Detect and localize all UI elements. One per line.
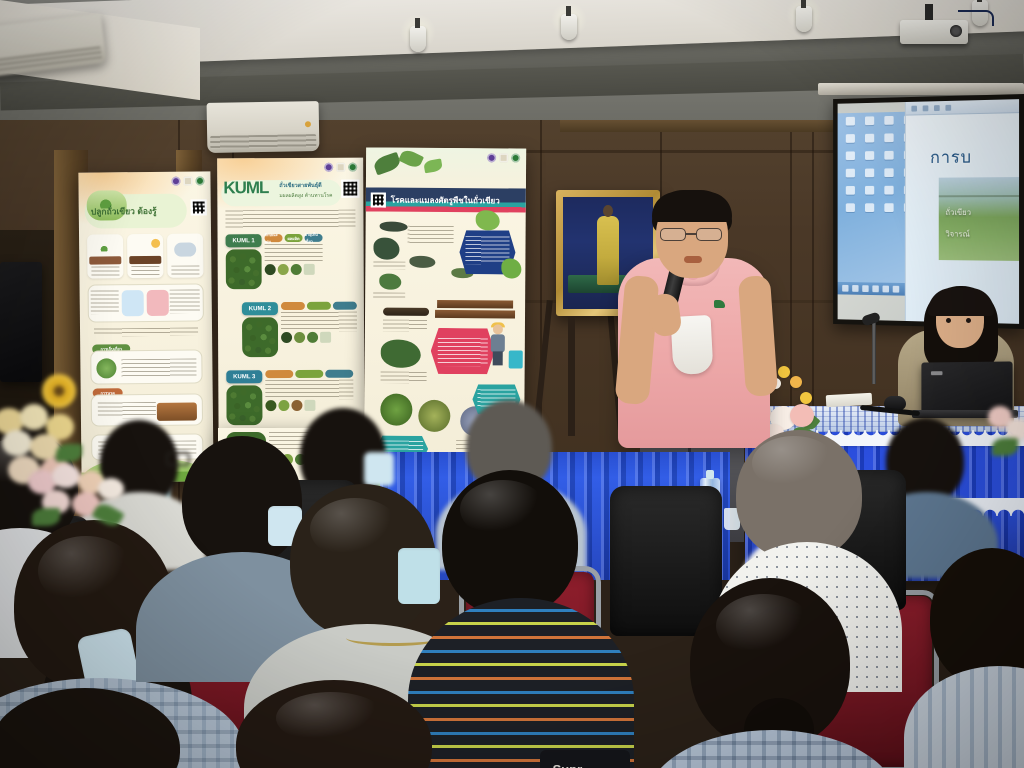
organization-logo-icon xyxy=(487,153,496,162)
seed-closeup-icon xyxy=(291,400,302,411)
desktop-icon[interactable] xyxy=(845,134,854,143)
qr-code-icon[interactable] xyxy=(371,192,386,207)
soil-illustration-dark xyxy=(129,256,161,264)
banner1-pill-row xyxy=(122,290,169,316)
bean-closeup-icon xyxy=(265,264,276,275)
card-caption-lines xyxy=(131,266,159,276)
flower-gold xyxy=(790,376,802,388)
wall-monitor xyxy=(0,262,42,382)
taskbar-start-icon[interactable] xyxy=(842,285,848,292)
pest-caterpillar-illustration xyxy=(380,222,408,232)
bean-closeup-icon xyxy=(281,332,292,343)
kuml-row-1: KUML 1 ลักษณะเด่น ผลผลิต อายุเก็บเกี่ยว xyxy=(226,234,323,290)
kuml-col-header-3 xyxy=(325,370,353,378)
slide-title: การบ xyxy=(930,144,972,171)
track-light-3 xyxy=(796,6,812,32)
qr-code-icon[interactable] xyxy=(191,199,207,215)
desktop-icon[interactable] xyxy=(845,117,854,126)
desktop-icon[interactable] xyxy=(884,116,893,125)
flower-yellow-2 xyxy=(800,392,812,404)
soil-bed-illustration xyxy=(437,300,513,309)
organization-logo-green-icon xyxy=(195,176,204,185)
plant-illustration xyxy=(476,210,500,230)
qr-code-icon[interactable] xyxy=(341,180,359,198)
taskbar-icon[interactable] xyxy=(883,286,889,293)
desktop-icon[interactable] xyxy=(865,151,874,160)
card-caption-lines xyxy=(171,265,199,275)
organization-logo-icon xyxy=(171,177,180,186)
kuml-row-2: KUML 2 xyxy=(242,302,357,358)
field-closeup-icon xyxy=(304,400,315,411)
kuml-row-text xyxy=(265,244,323,264)
hair-highlight xyxy=(310,498,400,560)
bean-closeup-icon xyxy=(265,400,276,411)
soil-illustration xyxy=(89,256,121,264)
section-text-lines xyxy=(98,402,156,419)
disease-photo-circle-2 xyxy=(418,400,450,432)
info-text-lines xyxy=(91,290,119,314)
organization-wordmark-icon xyxy=(183,177,192,186)
desktop-icon[interactable] xyxy=(884,133,893,142)
wall-ac-center xyxy=(207,101,320,153)
banner1-paragraph xyxy=(94,327,198,336)
hair-highlight xyxy=(716,594,812,658)
desktop-icon[interactable] xyxy=(845,169,854,178)
pest-beetle-illustration xyxy=(379,274,401,290)
eye-left xyxy=(946,318,951,323)
kuml-col-header-3 xyxy=(333,302,357,310)
face-mask xyxy=(364,452,394,486)
info-text-lines-2 xyxy=(170,289,200,313)
pull-down-projection-screen[interactable]: การบ ถั่วเขียว วิจารณ์ xyxy=(833,94,1024,329)
plant-closeup-icon xyxy=(291,264,302,275)
body-shape xyxy=(491,334,505,352)
kuml-chip-2: KUML 2 xyxy=(242,302,278,315)
bouquet-left-pastel xyxy=(28,462,138,532)
eyeglasses-icon xyxy=(660,228,726,241)
organization-logo-green-icon xyxy=(348,163,357,172)
sunflower xyxy=(42,374,76,408)
slide-photo-caption-2: วิจารณ์ xyxy=(945,229,1015,241)
shirt-logo-icon xyxy=(714,300,725,308)
head-shape xyxy=(493,324,503,334)
field-closeup-icon xyxy=(304,264,315,275)
soil-bed-illustration-2 xyxy=(383,308,429,316)
kuml-col-header-1 xyxy=(265,370,293,378)
screen-surface: การบ ถั่วเขียว วิจารณ์ xyxy=(838,99,1019,324)
desktop-icon[interactable] xyxy=(865,134,874,143)
flower-cream xyxy=(1006,418,1024,440)
face-mask xyxy=(398,548,440,604)
flower-yellow xyxy=(778,366,790,378)
banner3-title: โรคและแมลงศัตรูพืชในถั่วเขียว xyxy=(391,193,500,207)
desktop-icon[interactable] xyxy=(884,186,893,195)
organization-wordmark-icon xyxy=(499,153,508,162)
pod-closeup-icon xyxy=(278,400,289,411)
desktop-icon[interactable] xyxy=(865,169,874,178)
banner3-title-bar: โรคและแมลงศัตรูพืชในถั่วเขียว xyxy=(366,187,526,212)
desktop-icon[interactable] xyxy=(884,203,893,212)
laptop-logo-icon xyxy=(931,371,943,375)
kuml-col-header-2 xyxy=(307,302,331,310)
kuml-row-text xyxy=(281,312,357,332)
taskbar-icon[interactable] xyxy=(852,285,858,292)
bean-photo-1 xyxy=(226,249,262,289)
organization-wordmark-icon xyxy=(336,163,345,172)
hair-highlight xyxy=(460,480,546,538)
ribbon-icon[interactable] xyxy=(911,106,917,112)
kuml-subtitle-1: ถั่วเขียวสายพันธุ์ดี xyxy=(279,182,321,190)
app-ribbon-bar[interactable] xyxy=(906,99,1019,116)
flower-cream xyxy=(98,478,124,500)
kuml-row-text xyxy=(265,380,353,400)
presenter-mouth xyxy=(684,256,702,263)
banner1-section-box-1 xyxy=(90,349,202,384)
hair-highlight xyxy=(38,536,134,606)
ribbon-icon[interactable] xyxy=(945,105,951,111)
presenter-hair-top xyxy=(652,192,732,222)
banner1-card-3 xyxy=(167,233,203,277)
banner3-callout-pink xyxy=(431,328,495,374)
projector-lens-icon xyxy=(950,25,962,37)
farmer-illustration xyxy=(489,324,507,366)
plant-closeup-icon xyxy=(307,332,318,343)
disease-photo-circle-1 xyxy=(380,394,412,426)
laptop-operator-fringe xyxy=(928,288,994,316)
track-light-1 xyxy=(410,26,426,52)
banner1-title: ปลูกถั่วเขียว ต้องรู้ xyxy=(91,204,157,219)
info-pill-blue xyxy=(122,290,144,316)
pod-closeup-icon xyxy=(278,264,289,275)
ribbon-icon[interactable] xyxy=(934,105,940,111)
eye-right xyxy=(966,318,971,323)
bean-photo-3 xyxy=(226,385,262,425)
bag-brand-text: Supr xyxy=(552,762,582,768)
field-closeup-icon xyxy=(320,332,331,343)
portrait-figure xyxy=(597,216,619,285)
leaf-icon xyxy=(992,438,1018,456)
projection-screen-case xyxy=(818,83,1024,95)
plant-illustration xyxy=(501,258,521,278)
legs-shape xyxy=(493,351,503,365)
damaged-leaf-illustration xyxy=(373,237,399,259)
leaf-icon xyxy=(32,508,60,526)
kuml-chip-3: KUML 3 xyxy=(226,370,262,383)
tractor-illustration xyxy=(157,402,197,420)
callout-text-lines xyxy=(438,338,488,366)
audience-head xyxy=(182,436,302,566)
ac-vent-2 xyxy=(211,134,316,149)
flower-blush xyxy=(52,464,80,488)
seminar-room-photo: การบ ถั่วเขียว วิจารณ์ ปลูกถั่วเขียว ต้อ… xyxy=(0,0,1024,768)
card-caption-lines xyxy=(91,266,119,276)
pest-caption xyxy=(373,261,405,269)
ac-led-indicator xyxy=(305,121,311,127)
kuml-col-header-1 xyxy=(281,302,305,310)
ribbon-icon[interactable] xyxy=(923,105,929,111)
desktop-icon[interactable] xyxy=(865,203,874,212)
pod-closeup-icon xyxy=(294,332,305,343)
hair-highlight xyxy=(276,692,386,744)
water-cloud-icon xyxy=(174,242,196,256)
info-pill-pink xyxy=(147,290,169,316)
taskbar-icon[interactable] xyxy=(872,285,878,292)
section-text-lines xyxy=(121,358,196,377)
bouquet-right xyxy=(988,406,1024,470)
track-light-2 xyxy=(561,14,577,40)
slide-photo: ถั่วเขียว วิจารณ์ xyxy=(939,177,1019,261)
banner-logo-row xyxy=(487,153,520,162)
plant-icon xyxy=(96,358,116,378)
sprayer-tank-icon xyxy=(509,350,523,368)
desktop-icon[interactable] xyxy=(845,186,854,195)
kuml-intro-paragraph xyxy=(225,210,355,229)
sprout-icon xyxy=(100,241,108,251)
slide-photo-caption-1: ถั่วเขียว xyxy=(945,207,1015,219)
kuml-col-header-3: อายุเก็บเกี่ยว xyxy=(305,234,323,242)
pest-caption xyxy=(408,226,454,244)
microphone-stand xyxy=(872,322,876,384)
kuml-mini-photo-row xyxy=(281,332,357,343)
kuml-chip-1: KUML 1 xyxy=(226,234,262,247)
kuml-mini-photo-row xyxy=(265,264,323,275)
desktop-icon[interactable] xyxy=(884,151,893,160)
hair-highlight xyxy=(752,436,836,490)
desktop-icon[interactable] xyxy=(865,186,874,195)
banner-logo-row xyxy=(324,163,357,172)
flower-white xyxy=(2,430,32,456)
banner-logo-row xyxy=(171,176,204,185)
flower-pink xyxy=(790,404,814,427)
pest-larva-illustration xyxy=(409,256,435,268)
banner1-card-row xyxy=(87,233,203,278)
taskbar-icon[interactable] xyxy=(893,286,900,293)
kuml-col-header-2: ผลผลิต xyxy=(285,234,303,242)
taskbar-icon[interactable] xyxy=(862,285,868,292)
disease-caption xyxy=(381,372,427,384)
desktop-icon[interactable] xyxy=(845,203,854,212)
pest-caption xyxy=(373,292,405,298)
diseased-plant-illustration xyxy=(381,340,421,368)
easel-center-post xyxy=(568,316,575,436)
projector-cable xyxy=(958,10,994,26)
kuml-col-header-1: ลักษณะเด่น xyxy=(265,234,283,242)
organization-logo-icon xyxy=(324,163,333,172)
kuml-subtitle-2: มผลผลิตสูง ต้านทานโรค xyxy=(279,192,332,200)
banner1-card-1 xyxy=(87,234,123,278)
soil-bed-illustration-3 xyxy=(435,310,515,319)
desktop-icon[interactable] xyxy=(865,116,874,125)
leaf-icon xyxy=(56,444,82,462)
banner1-card-2 xyxy=(127,234,163,278)
bean-photo-2 xyxy=(242,317,278,357)
eyeglasses-icon xyxy=(166,452,190,466)
desktop-icon[interactable] xyxy=(845,151,854,160)
soil-caption xyxy=(383,320,427,332)
desktop-icon[interactable] xyxy=(884,168,893,177)
organization-logo-green-icon xyxy=(511,153,520,162)
kuml-wordmark: KUML xyxy=(223,178,268,198)
flower-cream xyxy=(20,404,48,430)
kuml-col-header-2 xyxy=(295,370,323,378)
sun-icon xyxy=(151,239,160,248)
